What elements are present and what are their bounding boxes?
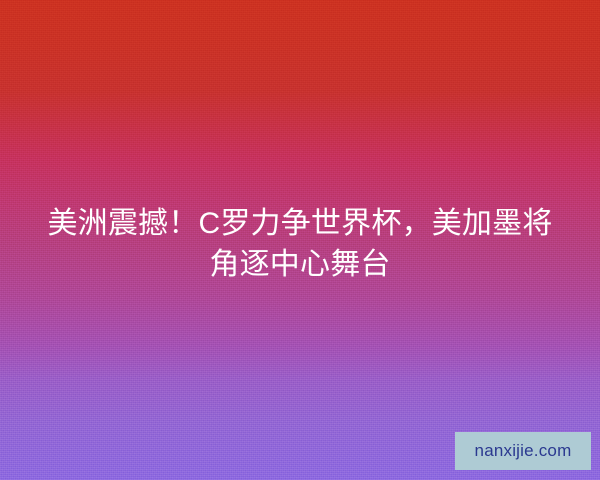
watermark-badge: nanxijie.com	[455, 432, 591, 470]
cover-image-canvas: 美洲震撼！C罗力争世界杯，美加墨将角逐中心舞台 nanxijie.com	[0, 0, 600, 480]
headline-text: 美洲震撼！C罗力争世界杯，美加墨将角逐中心舞台	[0, 203, 600, 285]
watermark-label: nanxijie.com	[475, 441, 572, 461]
